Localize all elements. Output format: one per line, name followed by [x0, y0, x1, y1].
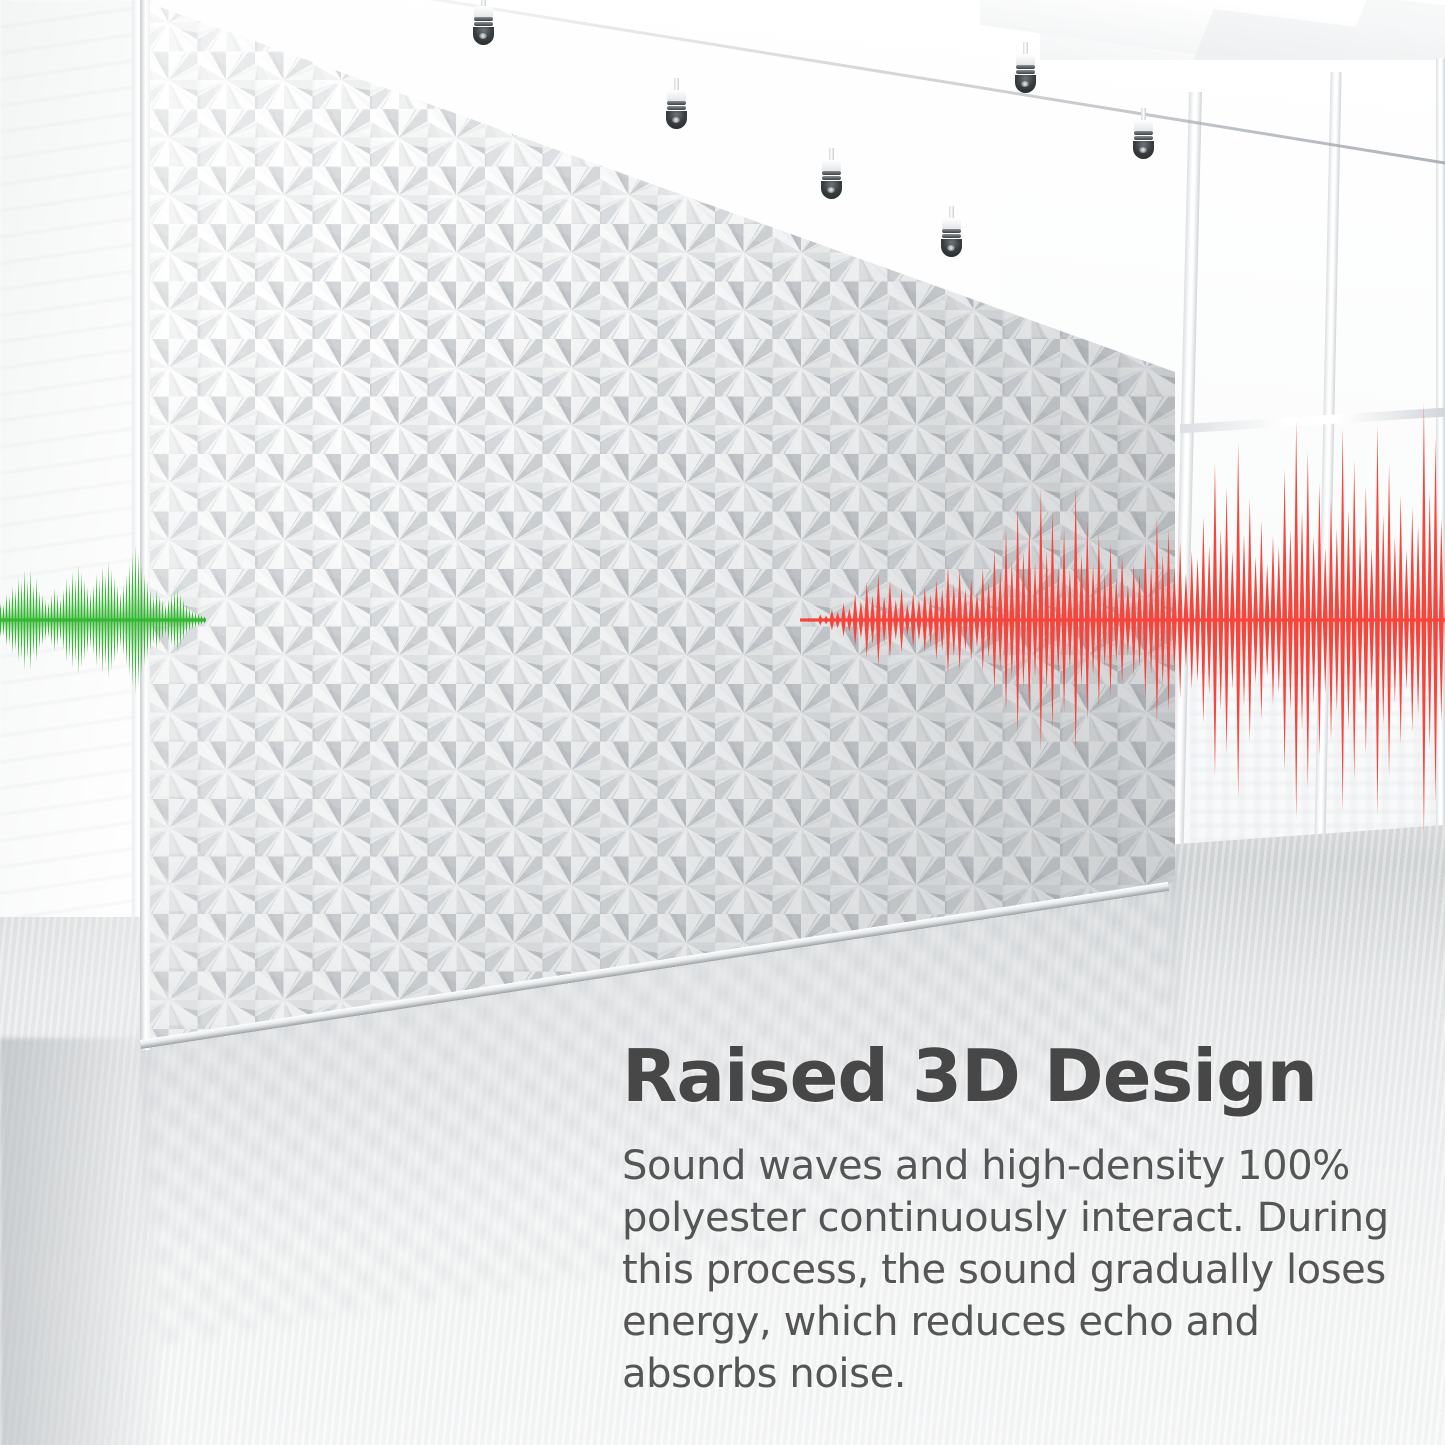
track-spotlight [938, 206, 964, 258]
left-background-wall [0, 0, 152, 1060]
track-spotlight [663, 78, 689, 130]
track-spotlight [1012, 42, 1038, 94]
floor-shadow-edge [0, 1038, 160, 1445]
track-spotlight [470, 0, 496, 46]
panel-wall-left-edge [140, 0, 150, 1050]
product-marketing-image: Raised 3D Design Sound waves and high-de… [0, 0, 1445, 1445]
track-spotlight [818, 148, 844, 200]
body-copy: Sound waves and high-density 100% polyes… [622, 1140, 1397, 1400]
track-spotlight [1130, 108, 1156, 160]
text-overlay: Raised 3D Design Sound waves and high-de… [622, 1040, 1422, 1400]
headline: Raised 3D Design [622, 1040, 1422, 1112]
